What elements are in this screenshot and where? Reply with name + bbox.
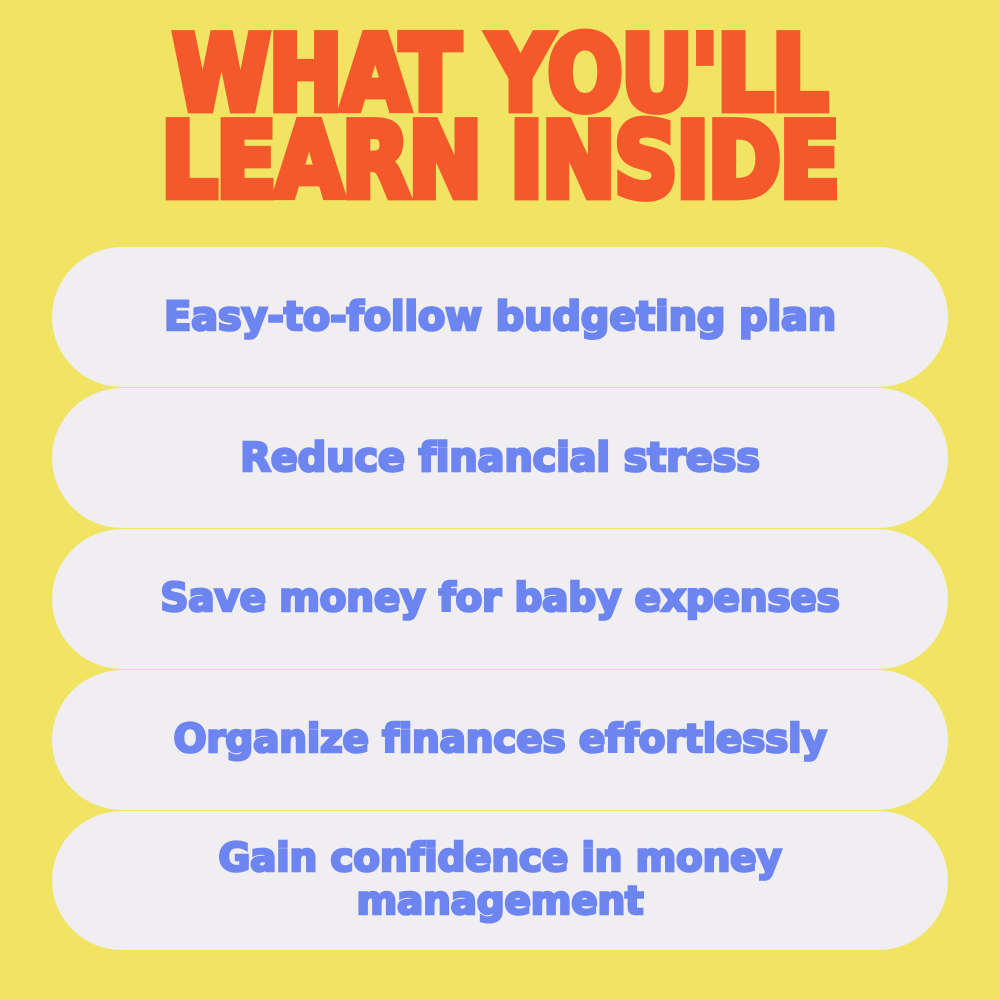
benefit-label-2: Reduce financial stress [240, 436, 760, 481]
benefits-list: Easy-to-follow budgeting plan Reduce fin… [52, 247, 948, 950]
benefit-card-4: Organize finances effortlessly [52, 670, 948, 810]
benefit-card-3: Save money for baby expenses [52, 529, 948, 669]
benefit-card-5: Gain confidence in money management [52, 811, 948, 950]
benefit-label-5: Gain confidence in money management [218, 838, 781, 924]
benefit-card-1: Easy-to-follow budgeting plan [52, 247, 948, 387]
page-title: WHAT YOU'LL LEARN INSIDE [0, 30, 1000, 198]
page-title-line-2: LEARN INSIDE [0, 117, 1000, 208]
benefit-label-4: Organize finances effortlessly [173, 718, 826, 762]
benefit-label-3: Save money for baby expenses [160, 577, 839, 621]
promo-poster: WHAT YOU'LL LEARN INSIDE Easy-to-follow … [0, 0, 1000, 1000]
benefit-card-2: Reduce financial stress [52, 388, 948, 528]
benefit-label-1: Easy-to-follow budgeting plan [164, 295, 836, 340]
